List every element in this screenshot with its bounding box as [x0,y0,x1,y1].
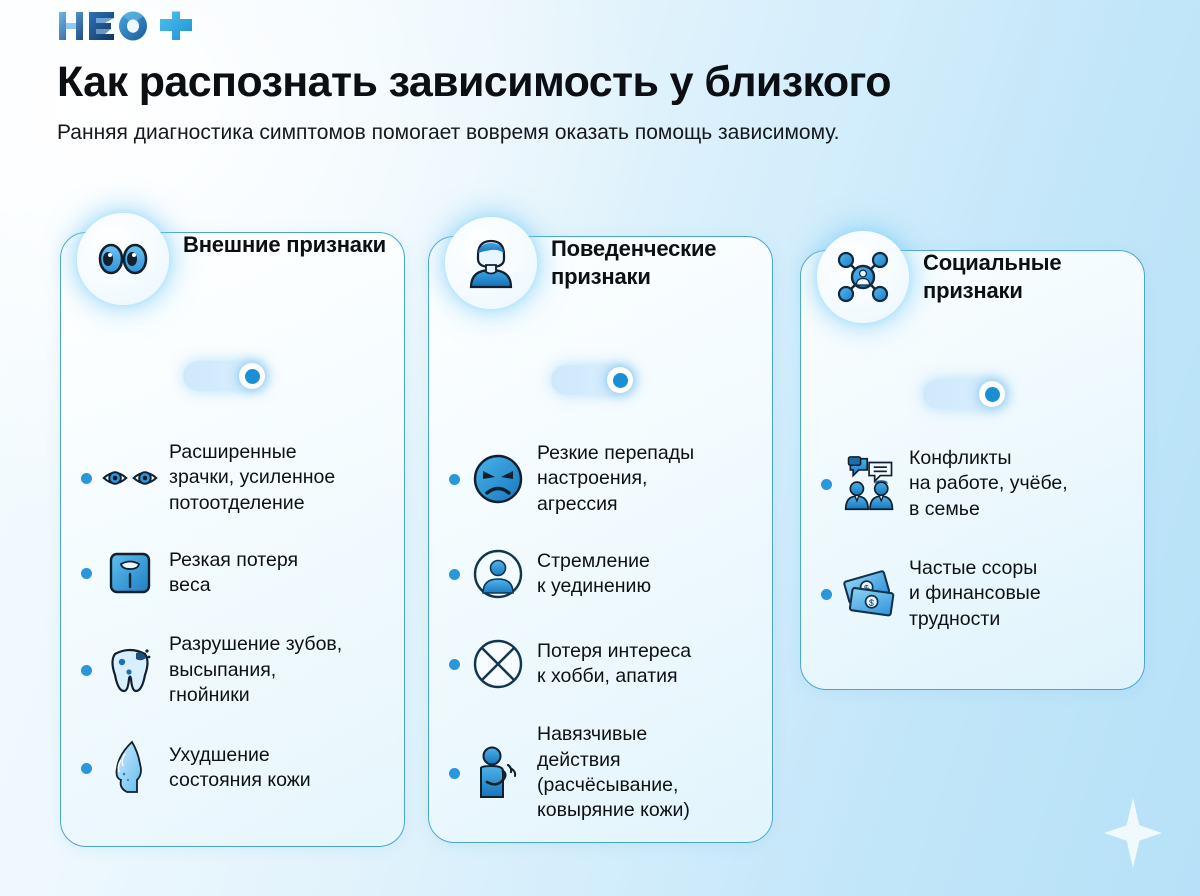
list-item: $ $ Частые ссоры и финансовые трудности [801,539,1144,649]
bullet-dot [81,763,92,774]
scratching-person-icon [469,745,527,801]
list-item: Резкие перепады настроения, агрессия [429,429,772,529]
face-skin-icon [101,740,159,796]
list-item-text: Стремление к уединению [537,549,651,600]
cards-container: Внешние признаки Расшире [0,0,1200,896]
bullet-dot [449,474,460,485]
list-item-text: Резкая потеря веса [169,548,298,599]
toggle-knob [239,363,265,389]
list-item: Расширенные зрачки, усиленное потоотделе… [61,428,404,528]
list-item-text: Расширенные зрачки, усиленное потоотделе… [169,440,335,516]
list-item-text: Ухудшение состояния кожи [169,743,311,794]
list-item-text: Конфликты на работе, учёбе, в семье [909,446,1068,522]
crossed-circle-icon [469,636,527,692]
card-behavioral-signs: Поведенческие признаки [428,236,773,843]
list-item: Разрушение зубов, высыпания, гнойники [61,618,404,723]
list-item-text: Навязчивые действия (расчёсывание, ковыр… [537,722,690,823]
toggle-knob [979,381,1005,407]
bullet-dot [81,473,92,484]
card-toggle[interactable] [183,361,267,391]
banknotes-icon: $ $ [841,566,899,622]
list-item-text: Частые ссоры и финансовые трудности [909,556,1041,632]
bullet-dot [81,665,92,676]
lone-person-icon [469,546,527,602]
card-toggle[interactable] [923,379,1007,409]
card-toggle[interactable] [551,365,635,395]
card-title: Внешние признаки [183,231,386,259]
signs-list: Расширенные зрачки, усиленное потоотделе… [61,428,404,813]
bullet-dot [449,768,460,779]
two-people-conflict-icon [841,456,899,512]
toggle-knob [607,367,633,393]
eyes-icon [77,213,169,305]
bullet-dot [821,479,832,490]
bullet-dot [449,569,460,580]
signs-list: Резкие перепады настроения, агрессия [429,429,772,837]
list-item-text: Резкие перепады настроения, агрессия [537,441,694,517]
list-item: Резкая потеря веса [61,528,404,618]
list-item: Стремление к уединению [429,529,772,619]
bullet-dot [449,659,460,670]
weight-scale-icon [101,545,159,601]
decayed-tooth-icon [101,643,159,699]
list-item: Навязчивые действия (расчёсывание, ковыр… [429,709,772,837]
network-person-icon [817,231,909,323]
list-item-text: Разрушение зубов, высыпания, гнойники [169,632,342,708]
dilated-pupils-icon [101,450,159,506]
list-item: Конфликты на работе, учёбе, в семье [801,429,1144,539]
bullet-dot [821,589,832,600]
person-avatar-icon [445,217,537,309]
list-item: Потеря интереса к хобби, апатия [429,619,772,709]
card-external-signs: Внешние признаки Расшире [60,232,405,847]
angry-face-icon [469,451,527,507]
card-title: Поведенческие признаки [551,235,772,290]
bullet-dot [81,568,92,579]
signs-list: Конфликты на работе, учёбе, в семье [801,429,1144,649]
list-item: Ухудшение состояния кожи [61,723,404,813]
list-item-text: Потеря интереса к хобби, апатия [537,639,691,690]
card-social-signs: Социальные признаки [800,250,1145,690]
card-title: Социальные признаки [923,249,1144,304]
